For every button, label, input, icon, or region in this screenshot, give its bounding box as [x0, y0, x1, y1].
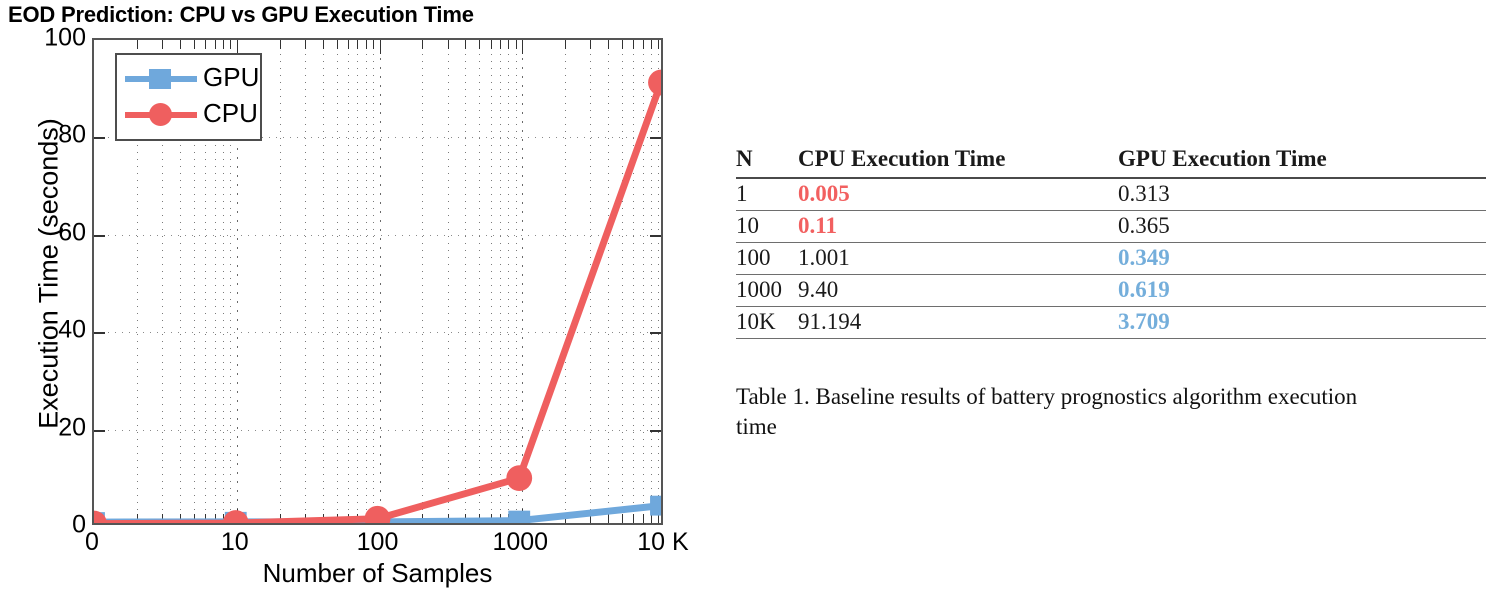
cell-cpu-time: 9.40	[798, 275, 1118, 307]
x-tick-label: 1000	[492, 528, 548, 557]
table-row: 10.0050.313	[736, 178, 1486, 211]
circle-marker-icon	[149, 103, 172, 126]
cell-cpu-time: 0.005	[798, 178, 1118, 211]
cell-n: 10	[736, 211, 798, 243]
table-caption: Table 1. Baseline results of battery pro…	[736, 382, 1396, 443]
chart-figure: EOD Prediction: CPU vs GPU Execution Tim…	[0, 0, 720, 599]
circle-marker-cpu	[94, 511, 107, 524]
x-tick-label: 0	[85, 528, 99, 557]
y-tick-label: 0	[72, 511, 86, 540]
cell-gpu-time: 0.619	[1118, 275, 1486, 307]
legend-item-cpu: CPU	[125, 99, 257, 129]
table-row: 100.110.365	[736, 211, 1486, 243]
series-line-cpu	[94, 83, 661, 524]
cell-gpu-time: 0.313	[1118, 178, 1486, 211]
plot-area: GPU CPU	[92, 38, 663, 525]
column-header-n: N	[736, 146, 798, 178]
circle-marker-cpu	[648, 70, 661, 96]
table-row: 10009.400.619	[736, 275, 1486, 307]
column-header-cpu: CPU Execution Time	[798, 146, 1118, 178]
table-header-row: N CPU Execution Time GPU Execution Time	[736, 146, 1486, 178]
square-marker-gpu	[508, 511, 530, 524]
cell-n: 1000	[736, 275, 798, 307]
legend-item-gpu: GPU	[125, 63, 257, 93]
cell-n: 1	[736, 178, 798, 211]
legend-label-gpu: GPU	[203, 62, 259, 93]
x-tick-label: 10 K	[637, 528, 688, 557]
x-axis-title: Number of Samples	[92, 558, 663, 589]
cell-cpu-time: 91.194	[798, 307, 1118, 339]
y-axis-title: Execution Time (seconds)	[34, 39, 65, 509]
legend-label-cpu: CPU	[203, 98, 258, 129]
table-body: 10.0050.313100.110.3651001.0010.34910009…	[736, 178, 1486, 339]
chart-title: EOD Prediction: CPU vs GPU Execution Tim…	[8, 2, 474, 28]
column-header-gpu: GPU Execution Time	[1118, 146, 1486, 178]
cell-gpu-time: 3.709	[1118, 307, 1486, 339]
cell-n: 100	[736, 243, 798, 275]
cell-gpu-time: 0.365	[1118, 211, 1486, 243]
cell-cpu-time: 0.11	[798, 211, 1118, 243]
cell-cpu-time: 1.001	[798, 243, 1118, 275]
table-row: 1001.0010.349	[736, 243, 1486, 275]
circle-marker-cpu	[365, 506, 391, 524]
cell-gpu-time: 0.349	[1118, 243, 1486, 275]
x-tick-label: 10	[221, 528, 249, 557]
results-table: N CPU Execution Time GPU Execution Time …	[736, 146, 1486, 339]
table-block: N CPU Execution Time GPU Execution Time …	[718, 0, 1500, 599]
square-marker-gpu	[650, 496, 661, 516]
circle-marker-cpu	[506, 465, 532, 491]
table-row: 10K91.1943.709	[736, 307, 1486, 339]
square-marker-icon	[149, 69, 171, 89]
x-tick-label: 100	[357, 528, 399, 557]
cell-n: 10K	[736, 307, 798, 339]
chart-legend: GPU CPU	[115, 53, 262, 141]
